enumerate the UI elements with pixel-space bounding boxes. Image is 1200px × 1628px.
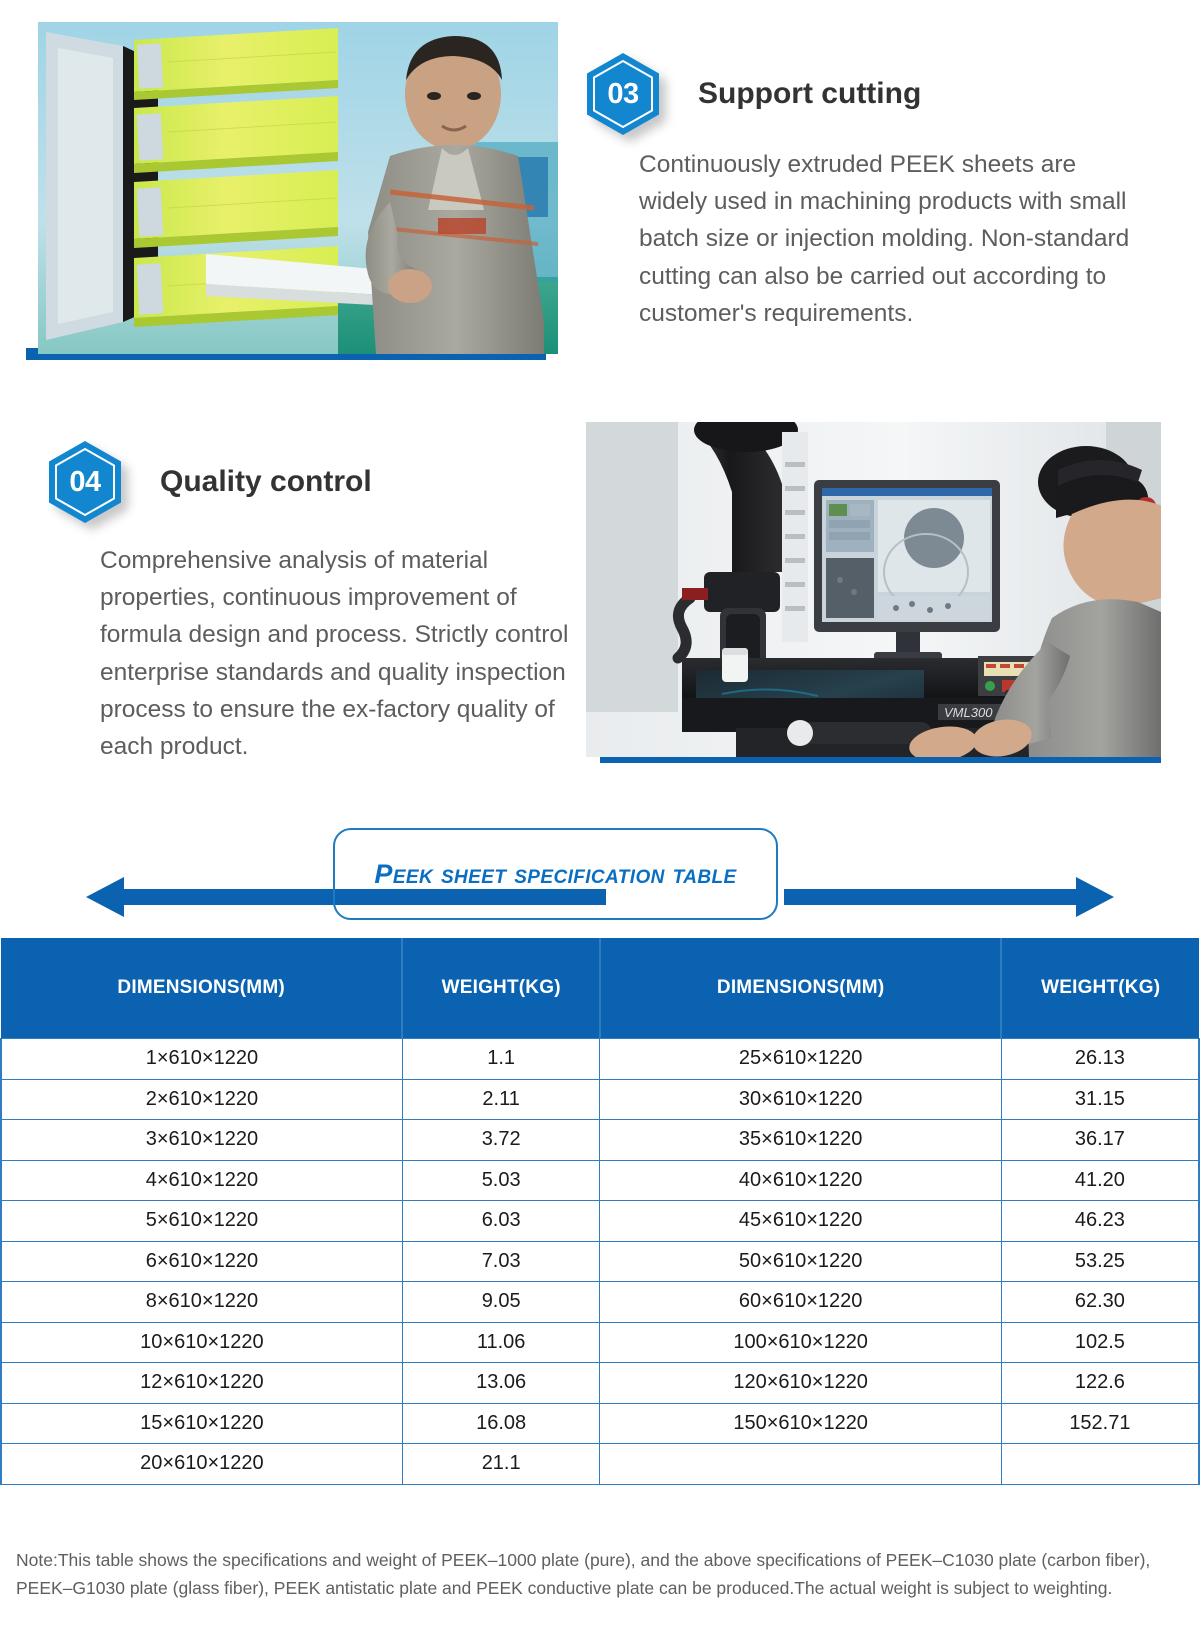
cell-weight: 31.15 <box>1001 1079 1199 1120</box>
cell-dimensions: 8×610×1220 <box>1 1282 402 1323</box>
cell-dimensions: 20×610×1220 <box>1 1444 402 1485</box>
cell-weight: 26.13 <box>1001 1039 1199 1080</box>
table-row: 8×610×12209.0560×610×122062.30 <box>1 1282 1199 1323</box>
hexagon-badge-number: 03 <box>586 52 660 136</box>
column-header-weight-right: WEIGHT(KG) <box>1001 938 1199 1039</box>
section-title: Support cutting <box>698 77 921 111</box>
cell-weight: 6.03 <box>402 1201 600 1242</box>
table-row: 15×610×122016.08150×610×1220152.71 <box>1 1403 1199 1444</box>
table-row: 6×610×12207.0350×610×122053.25 <box>1 1241 1199 1282</box>
cell-dimensions: 45×610×1220 <box>600 1201 1001 1242</box>
column-header-weight-left: WEIGHT(KG) <box>402 938 600 1039</box>
table-body: 1×610×12201.125×610×122026.132×610×12202… <box>1 1039 1199 1485</box>
support-cutting-photo <box>38 22 558 354</box>
quality-control-photo-art: VML300 <box>586 422 1161 757</box>
cell-weight: 62.30 <box>1001 1282 1199 1323</box>
cell-dimensions: 30×610×1220 <box>600 1079 1001 1120</box>
cell-weight: 7.03 <box>402 1241 600 1282</box>
arrow-right-icon <box>784 875 1114 919</box>
table-row: 10×610×122011.06100×610×1220102.5 <box>1 1322 1199 1363</box>
spec-table-banner-title: Peek sheet specification table <box>333 828 778 920</box>
cell-weight: 152.71 <box>1001 1403 1199 1444</box>
cell-dimensions: 120×610×1220 <box>600 1363 1001 1404</box>
cell-dimensions: 10×610×1220 <box>1 1322 402 1363</box>
column-header-dimensions-right: DIMENSIONS(MM) <box>600 938 1001 1039</box>
cell-weight: 21.1 <box>402 1444 600 1485</box>
table-row: 12×610×122013.06120×610×1220122.6 <box>1 1363 1199 1404</box>
cell-dimensions: 50×610×1220 <box>600 1241 1001 1282</box>
cell-dimensions: 1×610×1220 <box>1 1039 402 1080</box>
cell-dimensions: 150×610×1220 <box>600 1403 1001 1444</box>
cell-dimensions: 4×610×1220 <box>1 1160 402 1201</box>
cell-dimensions: 5×610×1220 <box>1 1201 402 1242</box>
table-row: 5×610×12206.0345×610×122046.23 <box>1 1201 1199 1242</box>
cell-dimensions: 60×610×1220 <box>600 1282 1001 1323</box>
cell-dimensions: 40×610×1220 <box>600 1160 1001 1201</box>
cell-weight: 1.1 <box>402 1039 600 1080</box>
table-row: 4×610×12205.0340×610×122041.20 <box>1 1160 1199 1201</box>
cell-weight <box>1001 1444 1199 1485</box>
cell-weight: 36.17 <box>1001 1120 1199 1161</box>
cell-dimensions: 15×610×1220 <box>1 1403 402 1444</box>
table-row: 20×610×122021.1 <box>1 1444 1199 1485</box>
cell-dimensions: 35×610×1220 <box>600 1120 1001 1161</box>
table-row: 3×610×12203.7235×610×122036.17 <box>1 1120 1199 1161</box>
peek-sheet-specification-table: DIMENSIONS(MM) WEIGHT(KG) DIMENSIONS(MM)… <box>0 938 1200 1485</box>
cell-weight: 13.06 <box>402 1363 600 1404</box>
cell-weight: 16.08 <box>402 1403 600 1444</box>
svg-text:VML300: VML300 <box>944 705 993 720</box>
cell-dimensions: 3×610×1220 <box>1 1120 402 1161</box>
cell-weight: 11.06 <box>402 1322 600 1363</box>
table-row: 1×610×12201.125×610×122026.13 <box>1 1039 1199 1080</box>
column-header-dimensions-left: DIMENSIONS(MM) <box>1 938 402 1039</box>
section-title: Quality control <box>160 465 372 499</box>
support-cutting-photo-art <box>38 22 558 354</box>
section-03-body-text: Continuously extruded PEEK sheets are wi… <box>639 146 1151 332</box>
cell-dimensions: 2×610×1220 <box>1 1079 402 1120</box>
cell-dimensions: 12×610×1220 <box>1 1363 402 1404</box>
table-row: 2×610×12202.1130×610×122031.15 <box>1 1079 1199 1120</box>
section-04-body-text: Comprehensive analysis of material prope… <box>100 542 572 765</box>
quality-control-photo: VML300 <box>586 422 1161 757</box>
cell-dimensions: 6×610×1220 <box>1 1241 402 1282</box>
section-04-heading: 04 Quality control <box>48 440 372 524</box>
cell-weight: 41.20 <box>1001 1160 1199 1201</box>
spec-table-banner: Peek sheet specification table <box>0 825 1200 925</box>
table-header-row: DIMENSIONS(MM) WEIGHT(KG) DIMENSIONS(MM)… <box>1 938 1199 1039</box>
section-03-heading: 03 Support cutting <box>586 52 921 136</box>
cell-weight: 9.05 <box>402 1282 600 1323</box>
table-footer-note: Note:This table shows the specifications… <box>16 1546 1188 1603</box>
cell-weight: 122.6 <box>1001 1363 1199 1404</box>
hexagon-badge-icon: 04 <box>48 440 122 524</box>
hexagon-badge-number: 04 <box>48 440 122 524</box>
cell-weight: 3.72 <box>402 1120 600 1161</box>
cell-weight: 2.11 <box>402 1079 600 1120</box>
cell-dimensions <box>600 1444 1001 1485</box>
cell-weight: 102.5 <box>1001 1322 1199 1363</box>
cell-weight: 5.03 <box>402 1160 600 1201</box>
hexagon-badge-icon: 03 <box>586 52 660 136</box>
cell-weight: 46.23 <box>1001 1201 1199 1242</box>
cell-weight: 53.25 <box>1001 1241 1199 1282</box>
cell-dimensions: 25×610×1220 <box>600 1039 1001 1080</box>
cell-dimensions: 100×610×1220 <box>600 1322 1001 1363</box>
